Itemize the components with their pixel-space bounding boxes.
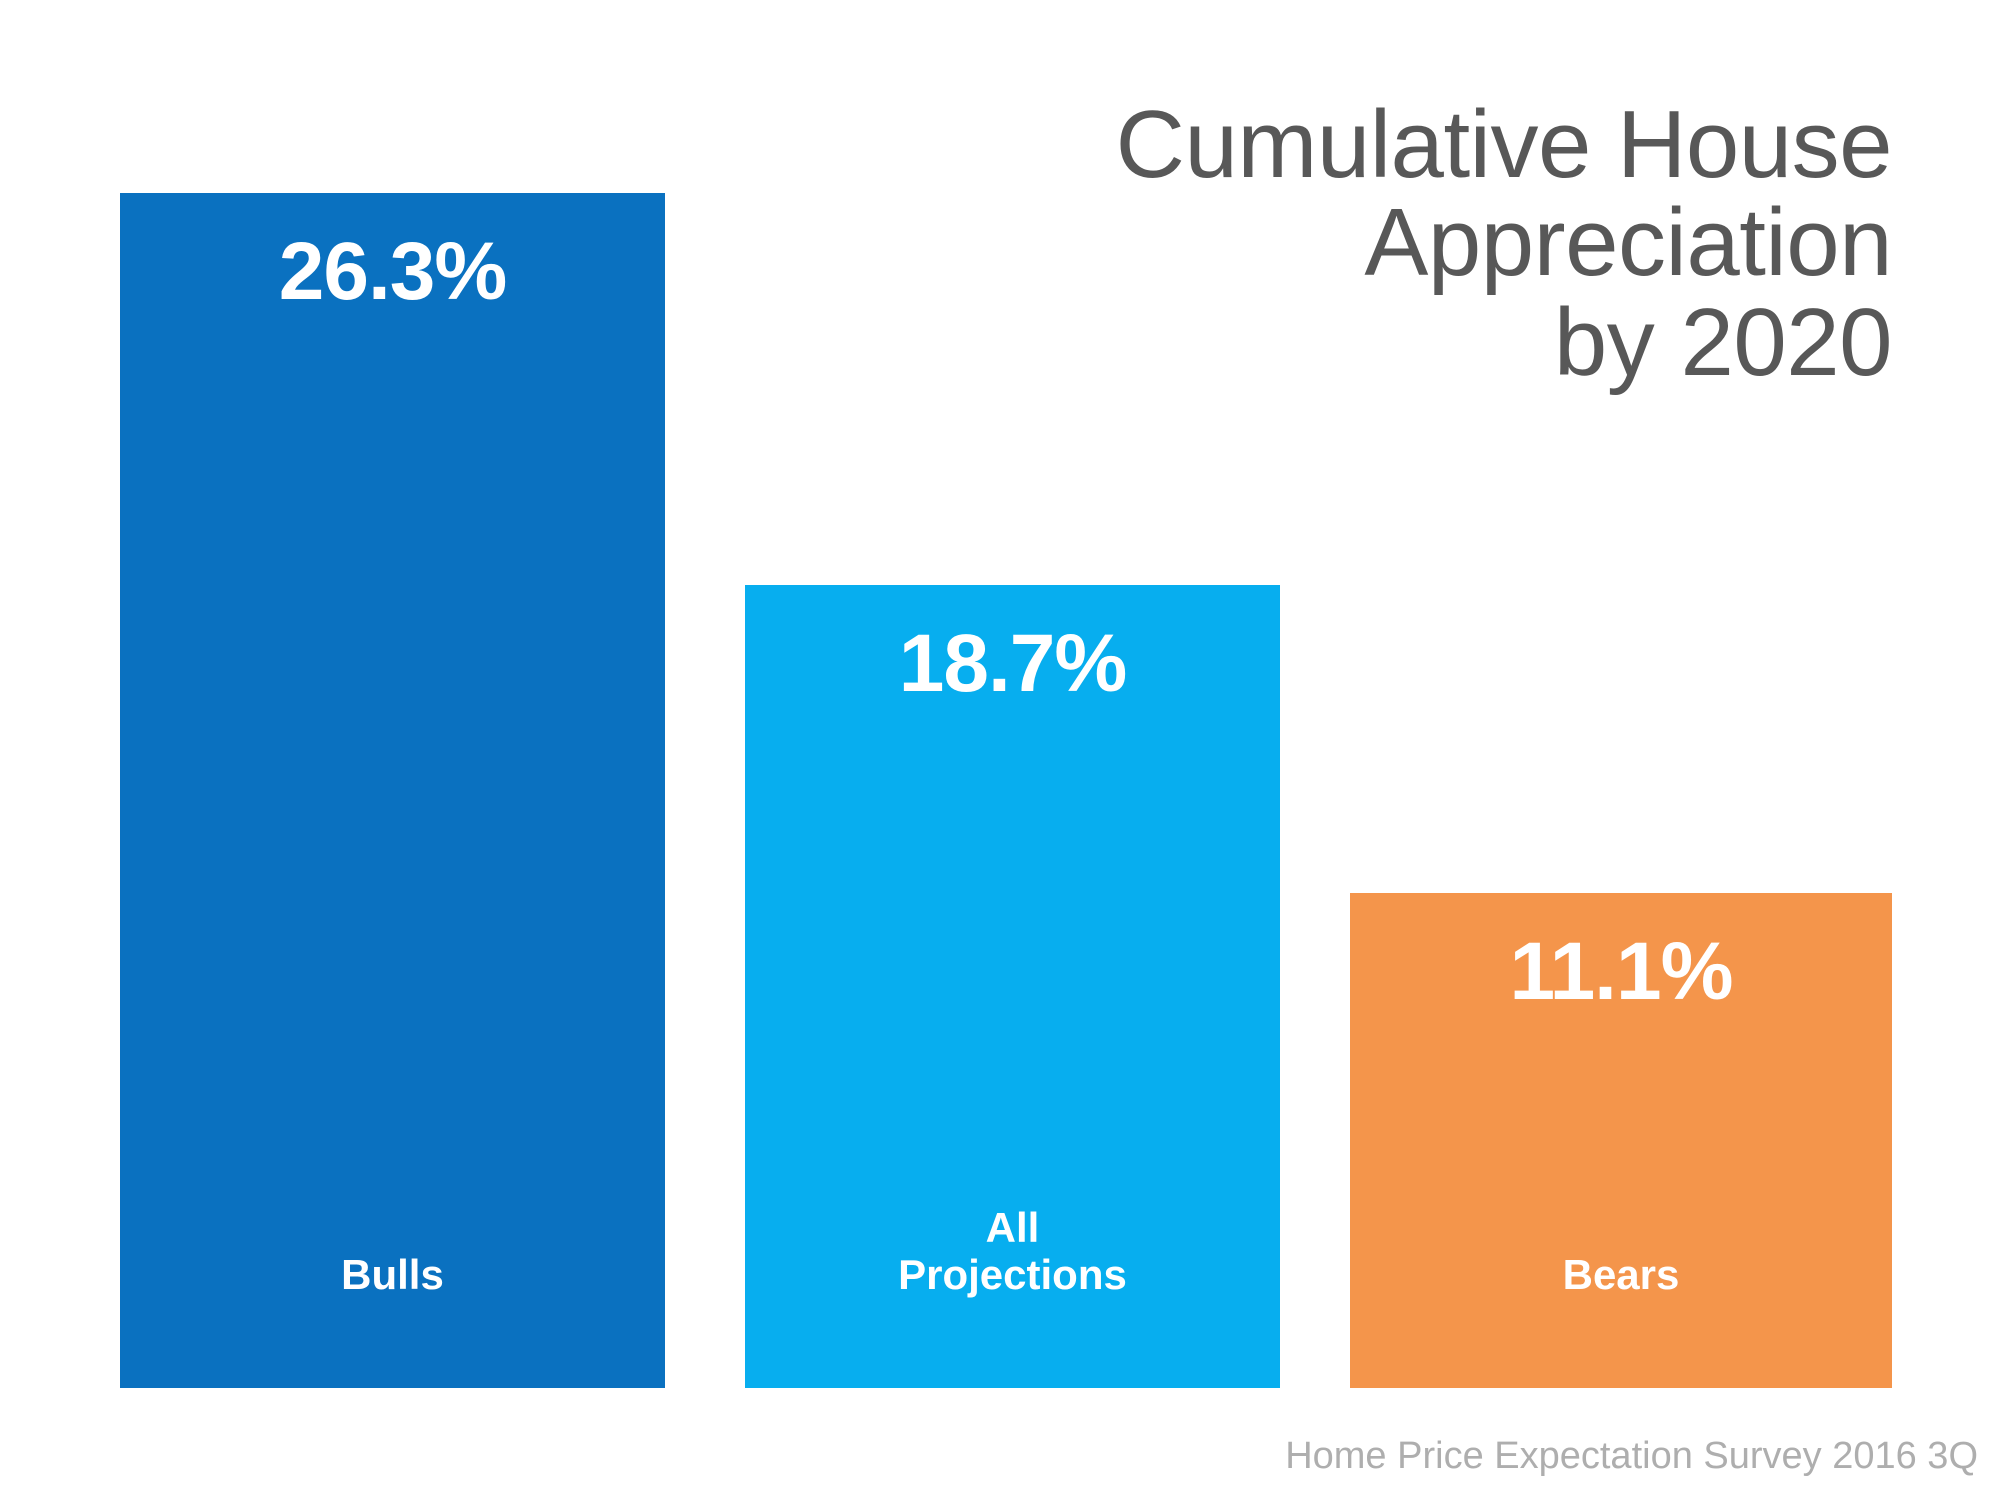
chart-canvas: Cumulative House Appreciation by 2020 26… bbox=[0, 0, 2000, 1500]
bar-bulls[interactable]: 26.3% Bulls bbox=[120, 193, 665, 1388]
bar-label-bears: Bears bbox=[1350, 1251, 1892, 1298]
bar-bears[interactable]: 11.1% Bears bbox=[1350, 893, 1892, 1388]
bar-label-all-projections: All Projections bbox=[745, 1204, 1280, 1298]
bar-value-bulls: 26.3% bbox=[120, 231, 665, 313]
bar-label-bulls: Bulls bbox=[120, 1251, 665, 1298]
bar-value-all-projections: 18.7% bbox=[745, 623, 1280, 705]
source-note: Home Price Expectation Survey 2016 3Q bbox=[1285, 1435, 1978, 1478]
bar-chart-plot-area: 26.3% Bulls 18.7% All Projections 11.1% … bbox=[0, 0, 2000, 1500]
bar-value-bears: 11.1% bbox=[1350, 931, 1892, 1013]
bar-all-projections[interactable]: 18.7% All Projections bbox=[745, 585, 1280, 1388]
